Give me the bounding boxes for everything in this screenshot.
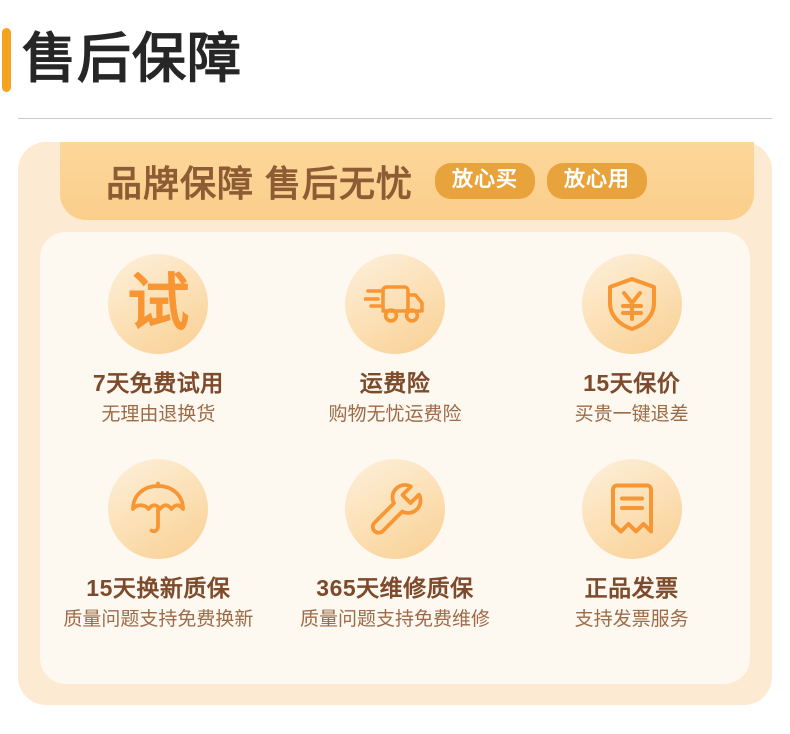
page-title: 售后保障 bbox=[22, 23, 242, 95]
shield-yuan-svg bbox=[604, 275, 660, 333]
umbrella-icon bbox=[108, 459, 208, 559]
truck-svg bbox=[364, 278, 426, 330]
wrench-svg bbox=[367, 481, 423, 537]
badge-confident-use: 放心用 bbox=[547, 163, 647, 199]
feature-subtitle: 无理由退换货 bbox=[101, 401, 215, 428]
title-accent-bar bbox=[2, 28, 11, 92]
feature-item-replacement-warranty: 15天换新质保 质量问题支持免费换新 bbox=[40, 459, 277, 684]
feature-title: 运费险 bbox=[360, 368, 431, 398]
feature-subtitle: 购物无忧运费险 bbox=[328, 401, 461, 428]
feature-subtitle: 质量问题支持免费维修 bbox=[300, 606, 490, 633]
page-header: 售后保障 bbox=[0, 0, 790, 119]
invoice-receipt-icon bbox=[582, 459, 682, 559]
trial-character-icon: 试 bbox=[108, 254, 208, 354]
feature-subtitle: 买贵一键退差 bbox=[575, 401, 689, 428]
feature-title: 7天免费试用 bbox=[93, 368, 224, 398]
feature-subtitle: 质量问题支持免费换新 bbox=[63, 606, 253, 633]
brand-guarantee-banner: 品牌保障 售后无忧 放心买 放心用 bbox=[60, 142, 754, 220]
trial-glyph: 试 bbox=[127, 273, 189, 335]
feature-title: 正品发票 bbox=[585, 573, 679, 603]
delivery-truck-icon bbox=[345, 254, 445, 354]
feature-item-invoice: 正品发票 支持发票服务 bbox=[513, 459, 750, 684]
badge-confident-buy: 放心买 bbox=[435, 163, 535, 199]
feature-item-repair-warranty: 365天维修质保 质量问题支持免费维修 bbox=[277, 459, 514, 684]
shield-yuan-icon bbox=[582, 254, 682, 354]
umbrella-svg bbox=[128, 481, 188, 537]
feature-item-price-protection: 15天保价 买贵一键退差 bbox=[513, 254, 750, 459]
feature-subtitle: 支持发票服务 bbox=[575, 606, 689, 633]
banner-title: 品牌保障 售后无忧 bbox=[106, 155, 413, 207]
feature-title: 15天保价 bbox=[583, 368, 680, 398]
feature-item-trial: 试 7天免费试用 无理由退换货 bbox=[40, 254, 277, 459]
wrench-icon bbox=[345, 459, 445, 559]
feature-title: 365天维修质保 bbox=[316, 573, 473, 603]
invoice-svg bbox=[605, 481, 659, 537]
guarantee-items-panel: 试 7天免费试用 无理由退换货 bbox=[40, 232, 750, 684]
feature-item-shipping-insurance: 运费险 购物无忧运费险 bbox=[277, 254, 514, 459]
guarantee-grid: 试 7天免费试用 无理由退换货 bbox=[40, 232, 750, 684]
feature-title: 15天换新质保 bbox=[86, 573, 230, 603]
after-sales-card: 品牌保障 售后无忧 放心买 放心用 试 7天免费试用 无理由退换货 bbox=[18, 142, 772, 705]
banner-badge-group: 放心买 放心用 bbox=[435, 163, 647, 199]
header-divider bbox=[18, 118, 772, 119]
